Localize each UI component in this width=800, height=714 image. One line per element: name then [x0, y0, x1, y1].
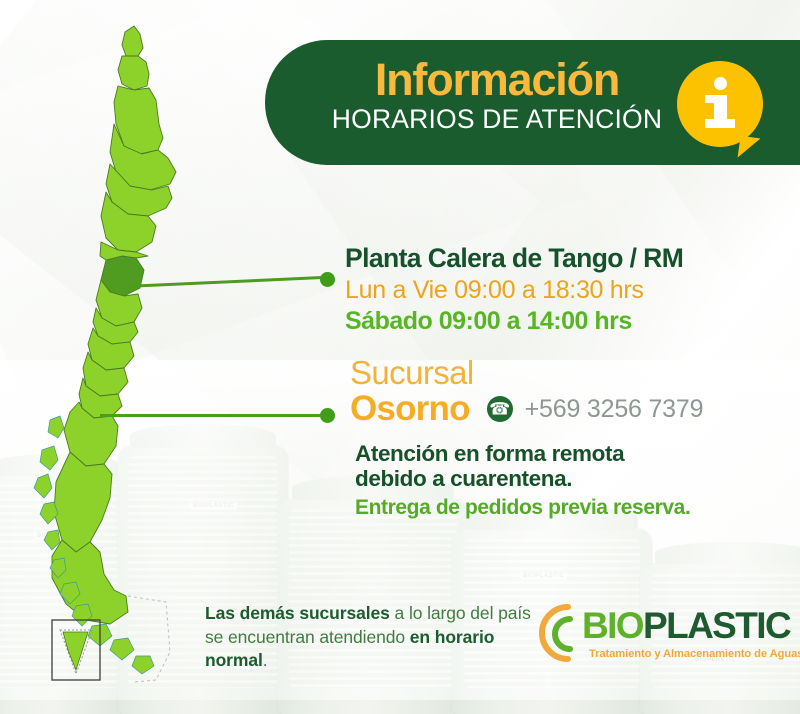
page-title: Información	[327, 57, 667, 103]
connector-dot-osorno	[320, 408, 335, 423]
page-subtitle: HORARIOS DE ATENCIÓN	[327, 104, 667, 134]
connector-dot-calera	[320, 272, 335, 287]
info-i-dot	[714, 77, 727, 90]
chile-map	[30, 12, 240, 688]
saturday-hours: Sábado 09:00 a 14:00 hrs	[345, 306, 683, 336]
branch-calera-de-tango: Planta Calera de Tango / RM Lun a Vie 09…	[345, 243, 683, 336]
branch-name-row: Osorno +569 3256 7379	[350, 391, 703, 428]
branch-label-prefix: Sucursal	[350, 356, 703, 389]
footer-note-period: .	[263, 650, 268, 670]
phone-icon	[487, 396, 513, 422]
notice-line-1: Atención en forma remota	[355, 441, 690, 466]
branch-title: Planta Calera de Tango / RM	[345, 243, 683, 274]
branch-osorno-notice: Atención en forma remota debido a cuaren…	[355, 441, 690, 520]
info-bubble-icon	[677, 61, 763, 147]
branch-name: Osorno	[350, 391, 470, 428]
logo-plastic: PLASTIC	[643, 605, 790, 646]
footer-note-bold-1: Las demás sucursales	[205, 603, 395, 623]
bioplastic-logo: BIOPLASTIC Tratamiento y Almacenamiento …	[538, 600, 763, 672]
logo-bio: BIO	[582, 605, 643, 646]
footer-note: Las demás sucursales a lo largo del país…	[205, 602, 535, 673]
phone-number[interactable]: +569 3256 7379	[525, 395, 704, 424]
info-i-base	[705, 119, 735, 128]
notice-line-3: Entrega de pedidos previa reserva.	[355, 495, 690, 520]
header-text-group: Información HORARIOS DE ATENCIÓN	[327, 57, 667, 134]
logo-wordmark: BIOPLASTIC	[582, 607, 790, 644]
connector-line-osorno	[100, 414, 327, 417]
header-panel: Información HORARIOS DE ATENCIÓN	[265, 40, 800, 165]
weekday-hours: Lun a Vie 09:00 a 18:30 hrs	[345, 275, 683, 305]
branch-osorno: Sucursal Osorno +569 3256 7379	[350, 356, 703, 428]
logo-tagline: Tratamiento y Almacenamiento de Aguas	[589, 648, 800, 660]
notice-line-2: debido a cuarentena.	[355, 466, 690, 491]
